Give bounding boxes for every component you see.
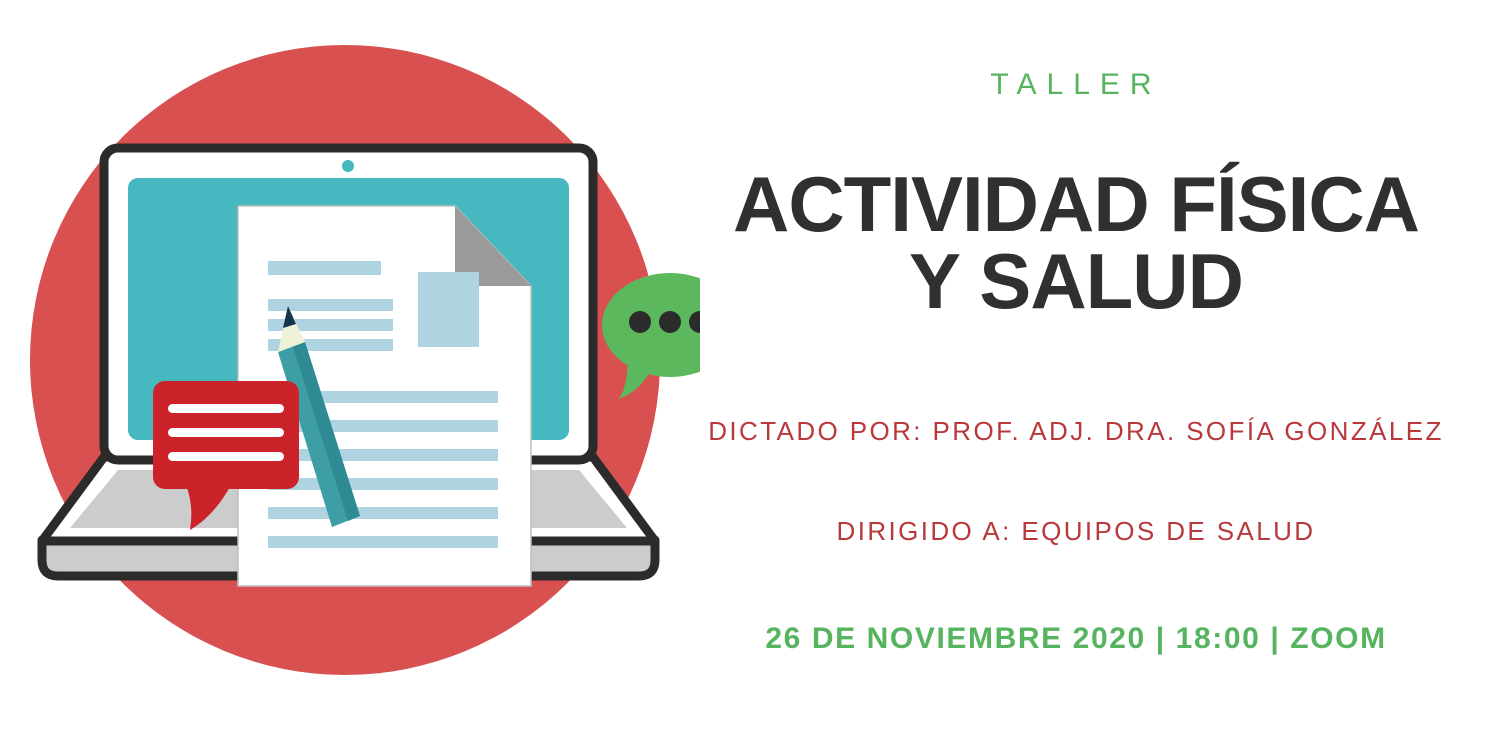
document-text-line: [268, 261, 381, 275]
document-text-line: [268, 299, 393, 311]
page-title: ACTIVIDAD FÍSICA Y SALUD: [660, 166, 1492, 319]
green-chat-dot: [629, 311, 651, 333]
date-time-platform-line: 26 DE NOVIEMBRE 2020 | 18:00 | ZOOM: [660, 624, 1492, 654]
document-text-line: [268, 536, 498, 548]
presenter-line: DICTADO POR: PROF. ADJ. DRA. SOFÍA GONZÁ…: [660, 418, 1492, 444]
document-text-line: [268, 478, 498, 490]
page-title-line-1: ACTIVIDAD FÍSICA: [733, 160, 1419, 248]
text-column: TALLER ACTIVIDAD FÍSICA Y SALUD DICTADO …: [660, 0, 1492, 735]
document-text-line: [268, 449, 498, 461]
red-chat-line: [168, 428, 284, 437]
page-title-line-2: Y SALUD: [660, 243, 1492, 319]
red-chat-line: [168, 452, 284, 461]
document-text-line: [268, 507, 498, 519]
poster-canvas: TALLER ACTIVIDAD FÍSICA Y SALUD DICTADO …: [0, 0, 1492, 735]
document-image-block: [418, 272, 479, 347]
laptop-webcam-dot: [342, 160, 354, 172]
red-chat-line: [168, 404, 284, 413]
audience-line: DIRIGIDO A: EQUIPOS DE SALUD: [660, 518, 1492, 544]
illustration-svg: [0, 0, 700, 735]
illustration: [0, 0, 700, 735]
eyebrow-label: TALLER: [660, 70, 1492, 100]
